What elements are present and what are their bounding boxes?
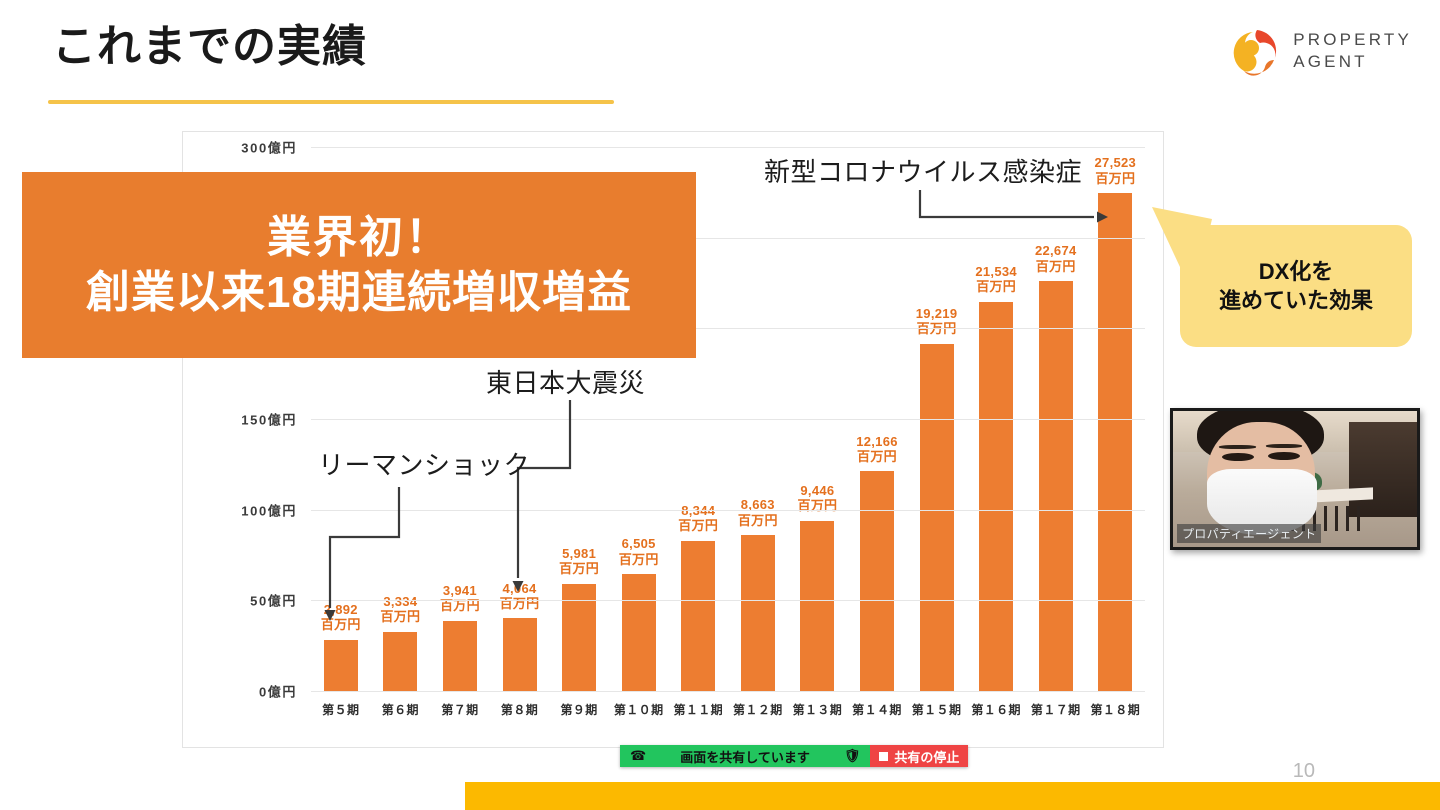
bar[interactable] xyxy=(860,471,894,692)
stop-square-icon xyxy=(879,752,888,761)
bar-slot: 9,446百万円第１３期 xyxy=(788,148,848,692)
annotation-earthquake: 東日本大震災 xyxy=(486,363,645,400)
x-axis-tick-label: 第１２期 xyxy=(733,701,783,718)
gridline: 100億円 xyxy=(311,510,1145,511)
bar-slot: 21,534百万円第１６期 xyxy=(966,148,1026,692)
x-axis-tick-label: 第１８期 xyxy=(1090,701,1140,718)
slide-canvas: これまでの実績 PROPERTY AGENT 2,892百万円第５期3,334百… xyxy=(0,0,1440,810)
stop-sharing-button[interactable]: 共有の停止 xyxy=(870,745,968,767)
bar[interactable] xyxy=(979,302,1013,692)
bar-value-label: 27,523百万円 xyxy=(1070,155,1160,186)
bar[interactable] xyxy=(920,344,954,693)
gridline: 0億円 xyxy=(311,691,1145,692)
annotation-lehman-shock: リーマンショック xyxy=(318,445,530,482)
banner-line-2: 創業以来18期連続増収増益 xyxy=(86,267,632,318)
banner-line-1: 業界初！ xyxy=(267,212,451,263)
webcam-participant-name: プロパティエージェント xyxy=(1177,524,1321,543)
webcam-brow-right xyxy=(1266,444,1303,448)
callout-dx: DX化を 進めていた効果 xyxy=(1180,225,1412,347)
x-axis-tick-label: 第１３期 xyxy=(793,701,843,718)
screen-share-toolbar[interactable]: ☎ 画面を共有しています 🛡 共有の停止 xyxy=(620,745,968,767)
webcam-eye-right xyxy=(1268,452,1300,460)
x-axis-tick-label: 第１７期 xyxy=(1031,701,1081,718)
bar[interactable] xyxy=(324,640,358,692)
phone-icon: ☎ xyxy=(630,748,646,764)
page-number: 10 xyxy=(1293,760,1315,783)
property-agent-logo: PROPERTY AGENT xyxy=(1231,26,1412,76)
gridline: 50億円 xyxy=(311,600,1145,601)
logo-line-1: PROPERTY xyxy=(1293,29,1412,51)
footer-bar xyxy=(465,782,1440,810)
webcam-brow-left xyxy=(1219,445,1256,449)
logo-mark-icon xyxy=(1231,26,1281,76)
share-status[interactable]: ☎ 画面を共有しています 🛡 xyxy=(620,745,870,767)
bar-slot: 19,219百万円第１５期 xyxy=(907,148,967,692)
y-axis-tick-label: 0億円 xyxy=(259,682,297,701)
callout-line-2: 進めていた効果 xyxy=(1219,286,1373,315)
bar-slot: 22,674百万円第１７期 xyxy=(1026,148,1086,692)
x-axis-tick-label: 第１０期 xyxy=(614,701,664,718)
share-status-text: 画面を共有しています xyxy=(680,747,810,766)
bar[interactable] xyxy=(443,621,477,692)
logo-line-2: AGENT xyxy=(1293,51,1412,73)
gridline: 300億円 xyxy=(311,147,1145,148)
bar[interactable] xyxy=(800,521,834,692)
bar[interactable] xyxy=(681,541,715,692)
y-axis-tick-label: 150億円 xyxy=(241,410,297,429)
title-underline xyxy=(48,100,614,104)
bar-slot: 12,166百万円第１４期 xyxy=(847,148,907,692)
bar[interactable] xyxy=(1039,281,1073,692)
logo-wordmark: PROPERTY AGENT xyxy=(1293,29,1412,73)
y-axis-tick-label: 100億円 xyxy=(241,500,297,519)
x-axis-tick-label: 第８期 xyxy=(501,701,538,718)
bar[interactable] xyxy=(503,618,537,692)
x-axis-tick-label: 第７期 xyxy=(441,701,478,718)
x-axis-tick-label: 第５期 xyxy=(322,701,359,718)
shield-icon[interactable]: 🛡 xyxy=(844,748,861,764)
webcam-dark-wall xyxy=(1349,422,1417,517)
webcam-overlay[interactable]: プロパティエージェント xyxy=(1170,408,1420,550)
bar[interactable] xyxy=(1098,193,1132,692)
annotation-covid: 新型コロナウイルス感染症 xyxy=(764,152,1082,189)
x-axis-tick-label: 第９期 xyxy=(560,701,597,718)
gridline: 150億円 xyxy=(311,419,1145,420)
stop-sharing-label: 共有の停止 xyxy=(894,747,959,766)
x-axis-tick-label: 第１６期 xyxy=(971,701,1021,718)
x-axis-tick-label: 第１５期 xyxy=(912,701,962,718)
bar-slot: 27,523百万円第１８期 xyxy=(1086,148,1146,692)
x-axis-tick-label: 第１４期 xyxy=(852,701,902,718)
bar[interactable] xyxy=(741,535,775,692)
bar-slot: 8,663百万円第１２期 xyxy=(728,148,788,692)
headline-banner: 業界初！ 創業以来18期連続増収増益 xyxy=(22,172,696,358)
y-axis-tick-label: 300億円 xyxy=(241,138,297,157)
page-title: これまでの実績 xyxy=(52,22,367,73)
y-axis-tick-label: 50億円 xyxy=(250,591,297,610)
x-axis-tick-label: 第１１期 xyxy=(673,701,723,718)
bar[interactable] xyxy=(622,574,656,692)
x-axis-tick-label: 第６期 xyxy=(382,701,419,718)
callout-line-1: DX化を xyxy=(1259,257,1334,286)
bar[interactable] xyxy=(383,632,417,692)
